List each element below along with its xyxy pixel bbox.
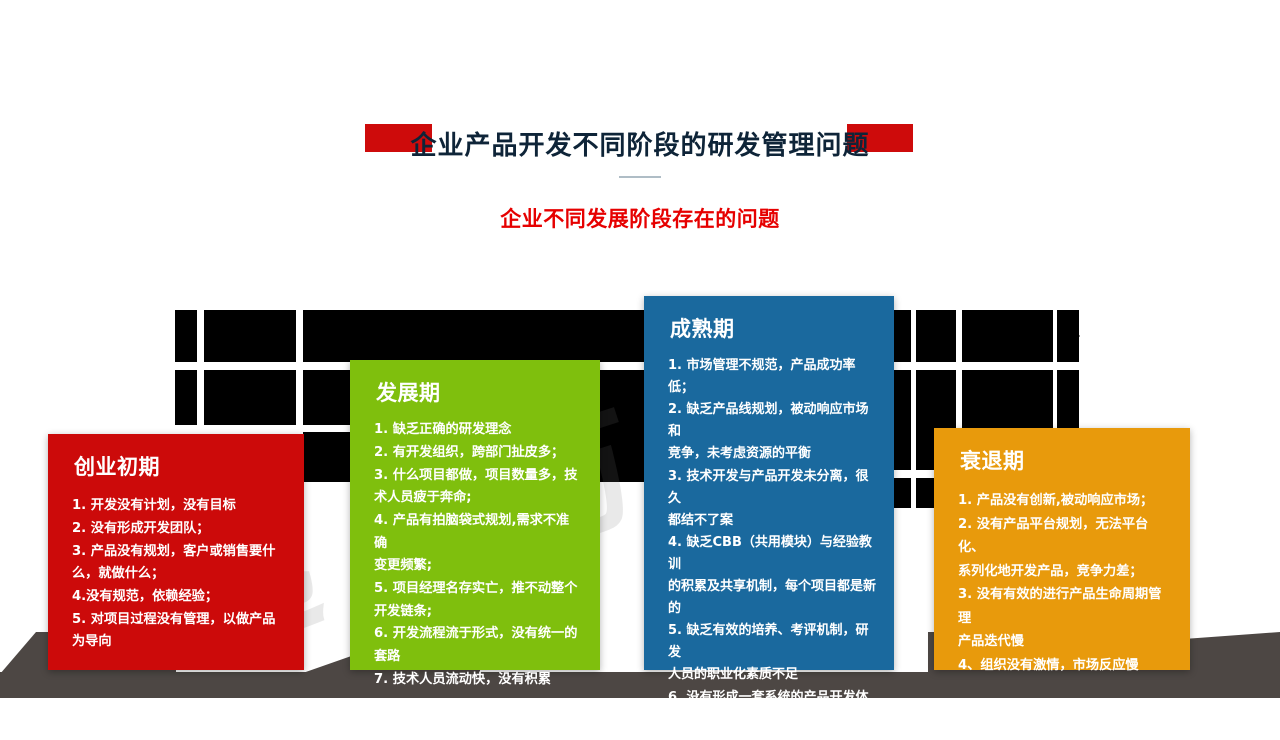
arrow-right-icon (1064, 323, 1080, 349)
phase-card-item: 3. 什么项目都做，项目数量多，技 (374, 465, 582, 488)
background-block (962, 310, 1053, 362)
phase-card-item: 2. 缺乏产品线规划，被动响应市场和 (668, 399, 876, 443)
phase-card-item: 3. 技术开发与产品开发未分离，很久 (668, 466, 876, 510)
phase-card-item: 1. 缺乏正确的研发理念 (374, 419, 582, 442)
phase-card-item: 3. 没有有效的进行产品生命周期管理 (958, 583, 1172, 630)
phase-card-item: 1. 产品没有创新,被动响应市场； (958, 489, 1172, 513)
phase-card-decline[interactable]: 衰退期 1. 产品没有创新,被动响应市场；2. 没有产品平台规划，无法平台化、系… (934, 428, 1190, 670)
background-block (893, 370, 911, 470)
phase-card-items: 1. 产品没有创新,被动响应市场；2. 没有产品平台规划，无法平台化、系列化地开… (958, 489, 1172, 677)
phase-card-item: 产品迭代慢 (958, 630, 1172, 654)
phase-card-item: 4. 产品有拍脑袋式规划,需求不准确 (374, 510, 582, 555)
phase-card-item: 变更频繁; (374, 555, 582, 578)
phase-card-item: 5. 缺乏有效的培养、考评机制，研发 (668, 620, 876, 664)
phase-card-item: 1. 开发没有计划，没有目标 (72, 495, 286, 518)
phase-card-item: 3. 产品没有规划，客户或销售要什 (72, 541, 286, 564)
phase-card-title: 创业初期 (74, 456, 286, 479)
background-block (545, 310, 645, 362)
phase-card-item: 4. 缺乏CBB（共用模块）与经验教训 (668, 532, 876, 576)
phase-card-item: 套路 (374, 646, 582, 669)
phase-card-items: 1. 开发没有计划，没有目标2. 没有形成开发团队；3. 产品没有规划，客户或销… (72, 495, 286, 654)
background-block (916, 310, 956, 362)
arrow-right-icon (561, 323, 577, 349)
page-subtitle: 企业不同发展阶段存在的问题 (0, 203, 1280, 233)
phase-card-item: 2. 没有产品平台规划，无法平台化、 (958, 513, 1172, 560)
phase-card-item: 5. 项目经理名存实亡，推不动整个 (374, 578, 582, 601)
background-block (893, 310, 911, 362)
phase-card-item: 的积累及共享机制，每个项目都是新的 (668, 576, 876, 620)
phase-card-item: 都结不了案 (668, 510, 876, 532)
background-block (893, 478, 911, 508)
phase-card-item: 开发链条; (374, 601, 582, 624)
phase-card-item: 2. 有开发组织，跨部门扯皮多； (374, 442, 582, 465)
background-block (204, 370, 296, 425)
phase-card-item: 竞争，未考虑资源的平衡 (668, 443, 876, 465)
phase-card-item: 么，就做什么； (72, 563, 286, 586)
phase-card-startup[interactable]: 创业初期 1. 开发没有计划，没有目标2. 没有形成开发团队；3. 产品没有规划… (48, 434, 304, 670)
phase-card-maturity[interactable]: 成熟期 1. 市场管理不规范，产品成功率低；2. 缺乏产品线规划，被动响应市场和… (644, 296, 894, 670)
background-block (204, 310, 296, 362)
background-block (303, 310, 562, 362)
phase-card-items: 1. 缺乏正确的研发理念2. 有开发组织，跨部门扯皮多；3. 什么项目都做，项目… (374, 419, 582, 691)
phase-card-item: 术人员疲于奔命; (374, 487, 582, 510)
phase-card-item: 2. 没有形成开发团队； (72, 518, 286, 541)
phase-card-item: 系列化地开发产品，竞争力差； (958, 560, 1172, 584)
background-block (916, 478, 934, 508)
phase-card-items: 1. 市场管理不规范，产品成功率低；2. 缺乏产品线规划，被动响应市场和竞争，未… (668, 355, 876, 731)
phase-card-item: 4、组织没有激情，市场反应慢 (958, 654, 1172, 678)
slide-canvas: 远 方 企业产品开发不同阶段的研发管理问题 企业不同发展阶段存在的问题 创业初期… (0, 0, 1280, 740)
phase-card-item: 人员的职业化素质不足 (668, 664, 876, 686)
phase-card-item: 7. 技术人员流动快，没有积累 (374, 669, 582, 692)
background-block (175, 310, 197, 362)
phase-card-item: 5. 对项目过程没有管理，以做产品 (72, 609, 286, 632)
phase-card-item: 6. 没有形成一套系统的产品开发体系 (668, 687, 876, 731)
phase-card-title: 发展期 (376, 382, 582, 405)
phase-card-title: 衰退期 (960, 450, 1172, 473)
page-title: 企业产品开发不同阶段的研发管理问题 (0, 125, 1280, 162)
phase-card-item: 为导向 (72, 631, 286, 654)
phase-card-item: 1. 市场管理不规范，产品成功率低； (668, 355, 876, 399)
title-divider (619, 176, 661, 178)
phase-card-item: 4.没有规范，依赖经验； (72, 586, 286, 609)
phase-card-item: 6. 开发流程流于形式，没有统一的 (374, 623, 582, 646)
phase-card-growth[interactable]: 发展期 1. 缺乏正确的研发理念2. 有开发组织，跨部门扯皮多；3. 什么项目都… (350, 360, 600, 670)
phase-card-title: 成熟期 (670, 318, 876, 341)
background-block (175, 370, 197, 425)
